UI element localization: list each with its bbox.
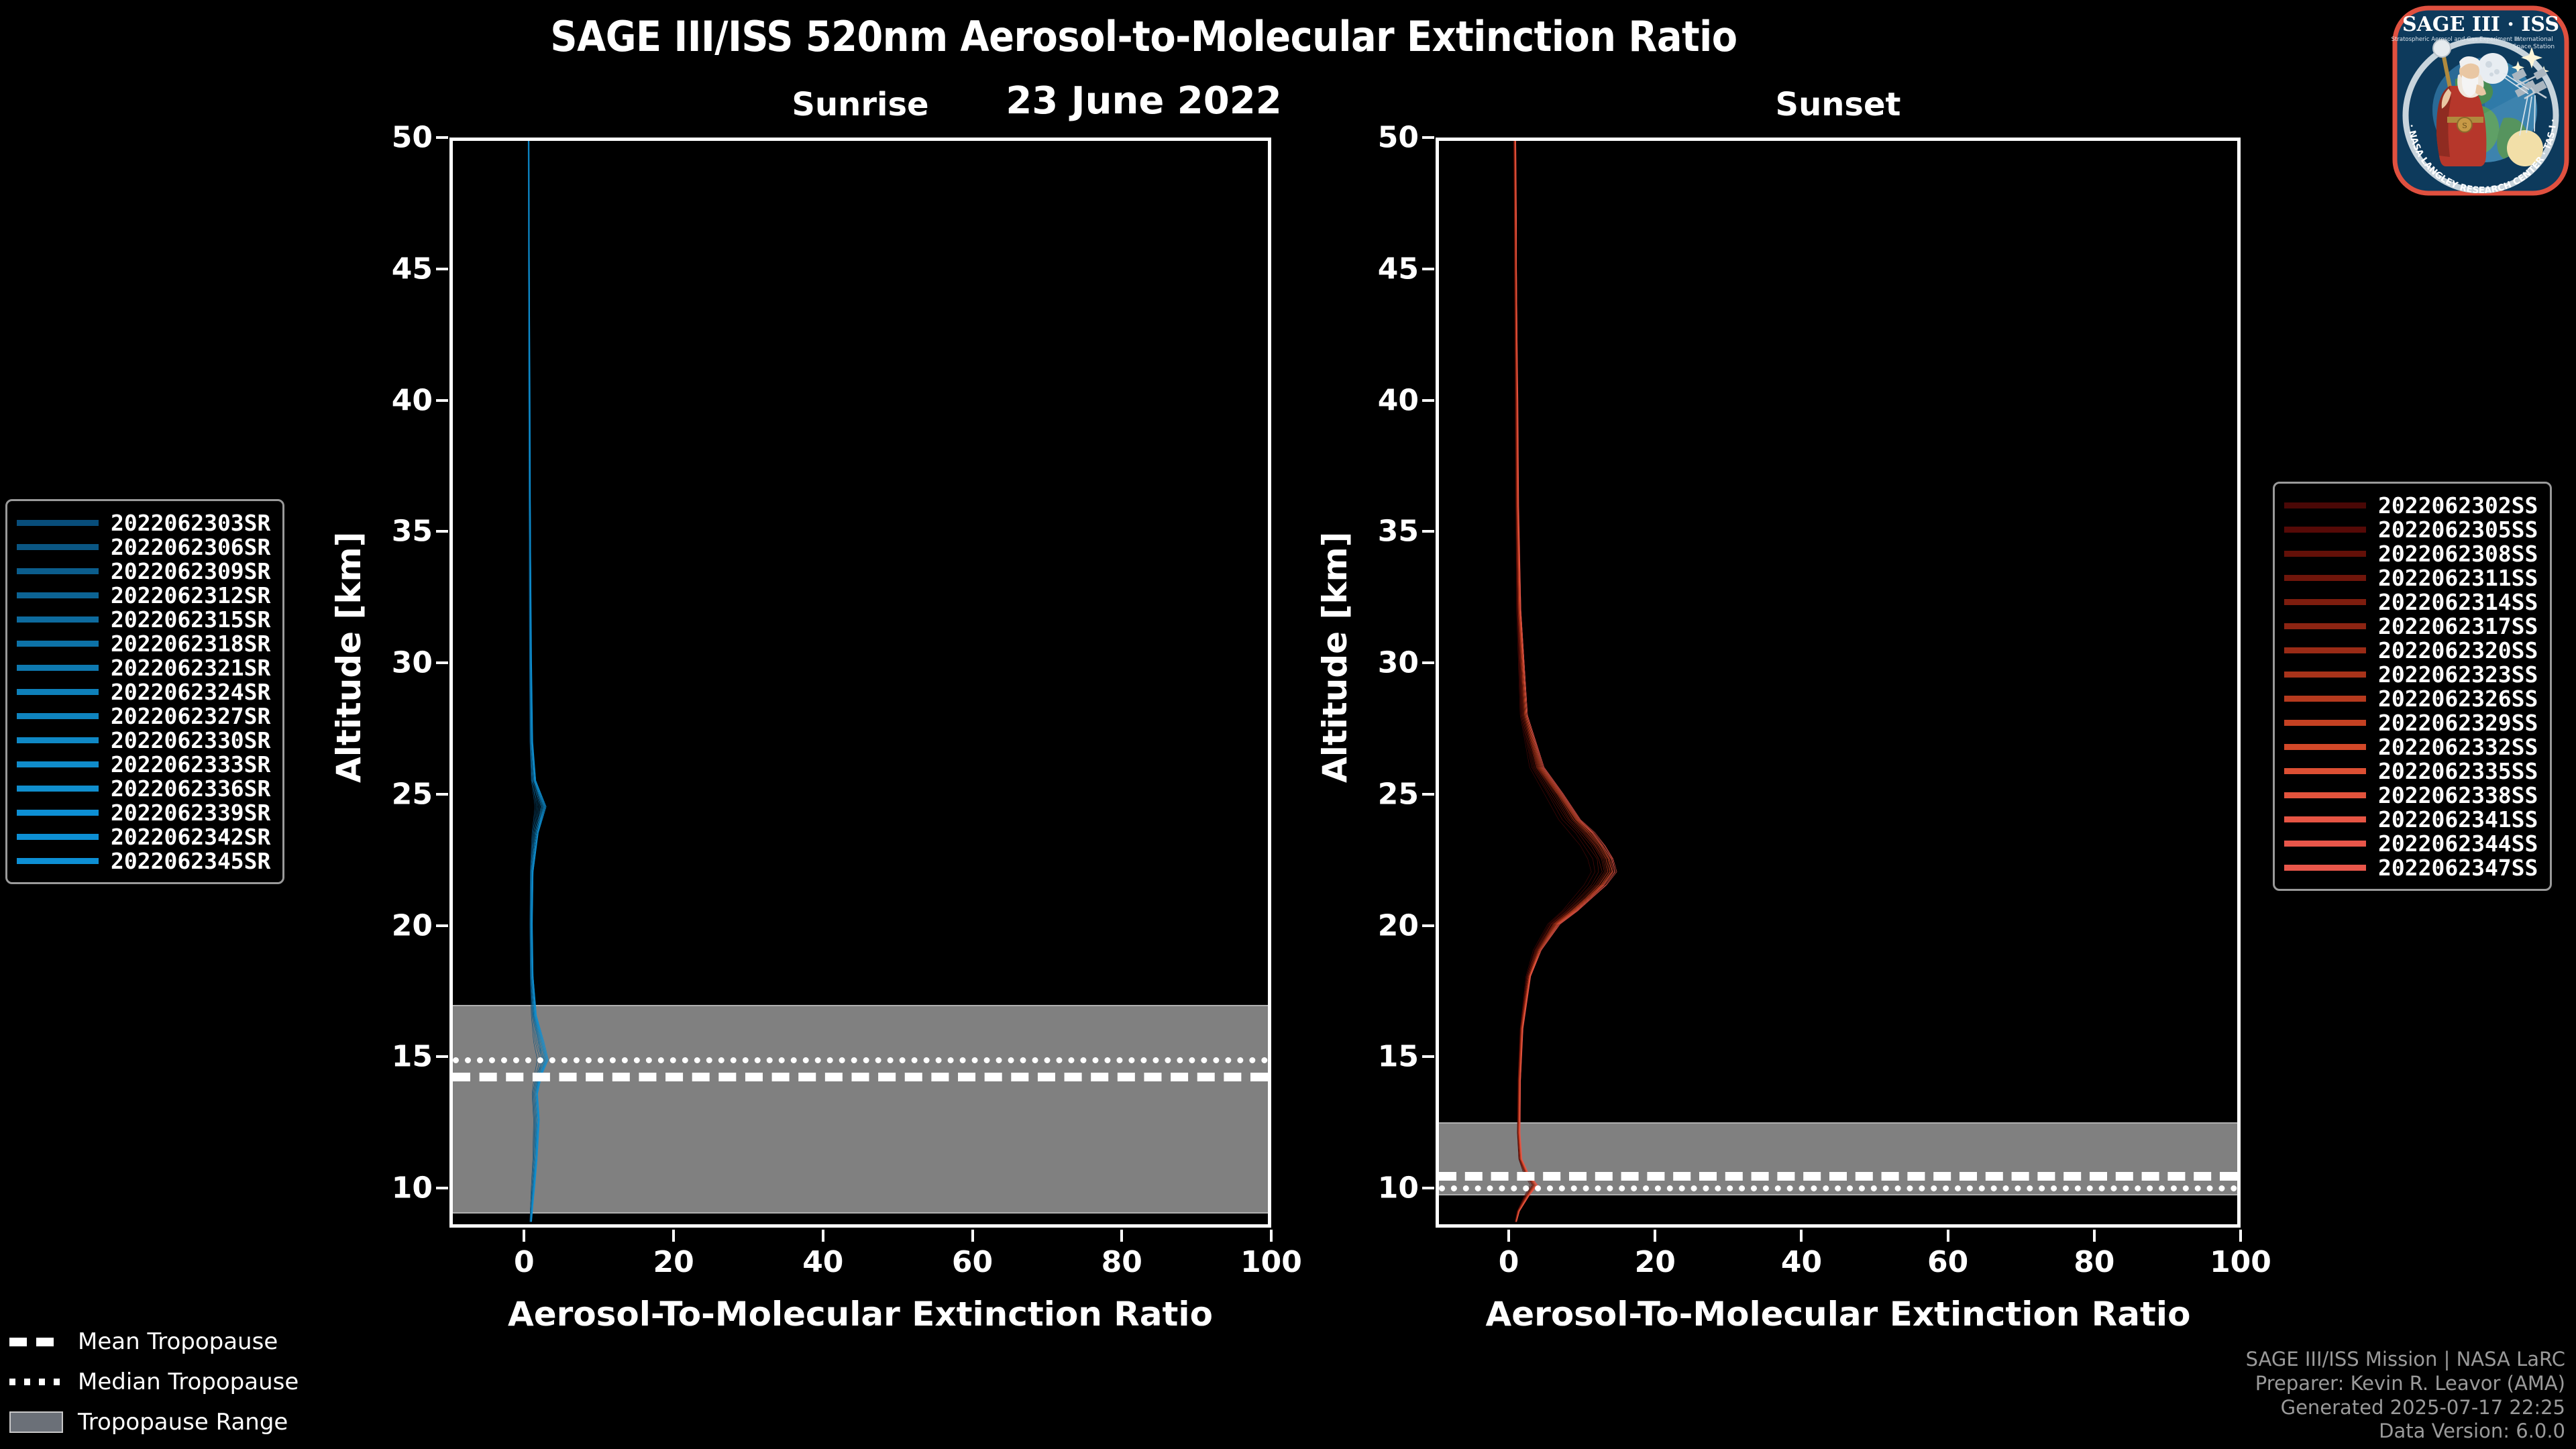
y-tick-mark [436, 530, 448, 533]
legend-row-tropopause-range: Tropopause Range [9, 1402, 299, 1442]
x-tick-mark [2239, 1230, 2242, 1242]
legend-color-swatch [17, 786, 99, 792]
series-line [1516, 141, 1617, 1222]
legend-label-median-tropopause: Median Tropopause [78, 1368, 299, 1395]
legend-color-swatch [2284, 696, 2366, 702]
plot-panel-sunset[interactable] [1436, 138, 2241, 1228]
legend-color-swatch [2284, 575, 2366, 581]
y-tick-mark [436, 924, 448, 927]
legend-item-label: 2022062309SR [111, 558, 270, 584]
legend-item-2022062339sr[interactable]: 2022062339SR [17, 800, 270, 824]
legend-item-2022062342sr[interactable]: 2022062342SR [17, 824, 270, 849]
legend-item-label: 2022062330SR [111, 727, 270, 753]
x-tick-label: 0 [470, 1245, 578, 1279]
legend-color-swatch [2284, 865, 2366, 871]
legend-item-2022062329ss[interactable]: 2022062329SS [2284, 710, 2538, 735]
legend-item-2022062326ss[interactable]: 2022062326SS [2284, 686, 2538, 710]
legend-item-label: 2022062303SR [111, 510, 270, 536]
legend-item-label: 2022062315SR [111, 606, 270, 633]
y-tick-label: 20 [1338, 908, 1419, 943]
legend-item-label: 2022062321SR [111, 655, 270, 681]
legend-item-2022062324sr[interactable]: 2022062324SR [17, 680, 270, 704]
legend-item-label: 2022062338SS [2378, 782, 2538, 808]
x-tick-mark [1270, 1230, 1273, 1242]
y-tick-label: 15 [1338, 1040, 1419, 1074]
legend-item-label: 2022062344SS [2378, 830, 2538, 857]
y-tick-label: 10 [1338, 1171, 1419, 1205]
y-tick-label: 40 [352, 383, 433, 417]
legend-item-2022062320ss[interactable]: 2022062320SS [2284, 638, 2538, 662]
legend-item-2022062306sr[interactable]: 2022062306SR [17, 535, 270, 559]
series-line [1515, 141, 1613, 1222]
x-tick-label: 0 [1455, 1245, 1562, 1279]
legend-item-label: 2022062347SS [2378, 855, 2538, 881]
legend-item-label: 2022062332SS [2378, 734, 2538, 760]
legend-color-swatch [2284, 768, 2366, 774]
sunrise-panel-title: Sunrise [449, 86, 1271, 123]
legend-sunset[interactable]: 2022062302SS2022062305SS2022062308SS2022… [2273, 482, 2552, 891]
legend-item-2022062303sr[interactable]: 2022062303SR [17, 511, 270, 535]
legend-item-2022062338ss[interactable]: 2022062338SS [2284, 783, 2538, 807]
legend-color-swatch [17, 641, 99, 647]
y-tick-label: 50 [1338, 121, 1419, 155]
x-tick-label: 80 [1068, 1245, 1175, 1279]
legend-color-swatch [17, 834, 99, 840]
y-tick-mark [436, 268, 448, 270]
legend-color-swatch [2284, 792, 2366, 798]
legend-item-2022062344ss[interactable]: 2022062344SS [2284, 831, 2538, 855]
legend-item-2022062336sr[interactable]: 2022062336SR [17, 776, 270, 800]
patch-subtitle-right-1: International [2514, 36, 2553, 43]
legend-item-2022062345sr[interactable]: 2022062345SR [17, 849, 270, 873]
legend-color-swatch [2284, 744, 2366, 750]
series-line [1515, 141, 1613, 1222]
legend-item-label: 2022062339SR [111, 800, 270, 826]
y-tick-label: 10 [352, 1171, 433, 1205]
y-tick-label: 15 [352, 1040, 433, 1074]
legend-item-2022062318sr[interactable]: 2022062318SR [17, 631, 270, 655]
y-tick-mark [436, 1187, 448, 1189]
legend-color-swatch [2284, 551, 2366, 557]
legend-item-2022062335ss[interactable]: 2022062335SS [2284, 759, 2538, 783]
legend-item-label: 2022062326SS [2378, 686, 2538, 712]
legend-color-swatch [2284, 599, 2366, 605]
x-tick-label: 60 [1894, 1245, 2002, 1279]
legend-color-swatch [17, 616, 99, 623]
series-line [1515, 141, 1606, 1222]
legend-color-swatch [2284, 841, 2366, 847]
y-tick-label: 40 [1338, 383, 1419, 417]
profile-curves-sunset [1439, 141, 2237, 1224]
legend-color-swatch [17, 568, 99, 574]
y-tick-mark [1422, 1187, 1434, 1189]
tropopause-legend: Mean Tropopause Median Tropopause Tropop… [9, 1322, 299, 1442]
y-tick-mark [1422, 399, 1434, 402]
y-tick-mark [436, 399, 448, 402]
credits-line-mission: SAGE III/ISS Mission | NASA LaRC [2246, 1348, 2565, 1372]
legend-item-label: 2022062345SR [111, 848, 270, 874]
legend-item-label: 2022062311SS [2378, 565, 2538, 591]
plot-panel-sunrise[interactable] [449, 138, 1271, 1228]
y-tick-mark [436, 1055, 448, 1058]
y-axis-title: Altitude [km] [329, 582, 368, 783]
x-tick-mark [2093, 1230, 2096, 1242]
legend-color-swatch [17, 689, 99, 695]
legend-item-2022062332ss[interactable]: 2022062332SS [2284, 735, 2538, 759]
x-tick-label: 20 [1601, 1245, 1709, 1279]
x-tick-label: 100 [1218, 1245, 1325, 1279]
legend-color-swatch [2284, 502, 2366, 508]
x-tick-label: 40 [769, 1245, 877, 1279]
patch-subtitle-right-2: Space Station [2513, 44, 2555, 50]
legend-color-swatch [17, 810, 99, 816]
y-tick-mark [436, 136, 448, 139]
legend-item-2022062315sr[interactable]: 2022062315SR [17, 607, 270, 631]
legend-item-label: 2022062318SR [111, 631, 270, 657]
median-tropopause-line [1439, 1185, 2237, 1191]
median-tropopause-line [453, 1057, 1268, 1063]
y-tick-label: 45 [1338, 252, 1419, 286]
legend-item-label: 2022062341SS [2378, 806, 2538, 833]
series-line [1515, 141, 1615, 1222]
y-tick-label: 45 [352, 252, 433, 286]
legend-item-label: 2022062314SS [2378, 589, 2538, 615]
x-tick-mark [971, 1230, 974, 1242]
y-tick-mark [1422, 793, 1434, 796]
sage-iii-iss-mission-patch-icon: S SAGE III · ISS Stratospheric Aerosol a… [2391, 4, 2571, 197]
patch-subtitle-left: Stratospheric Aerosol and Gas Experiment… [2392, 36, 2520, 43]
x-axis-title: Aerosol-To-Molecular Extinction Ratio [1436, 1295, 2241, 1334]
y-tick-mark [1422, 530, 1434, 533]
legend-color-swatch [17, 761, 99, 767]
y-tick-mark [1422, 661, 1434, 664]
x-tick-mark [1800, 1230, 1803, 1242]
x-tick-label: 80 [2041, 1245, 2148, 1279]
x-tick-mark [1654, 1230, 1656, 1242]
legend-item-label: 2022062305SS [2378, 517, 2538, 543]
legend-item-2022062309sr[interactable]: 2022062309SR [17, 559, 270, 583]
legend-item-2022062330sr[interactable]: 2022062330SR [17, 728, 270, 752]
legend-item-label: 2022062308SS [2378, 541, 2538, 567]
legend-color-swatch [2284, 720, 2366, 726]
legend-label-mean-tropopause: Mean Tropopause [78, 1328, 278, 1355]
legend-item-2022062341ss[interactable]: 2022062341SS [2284, 807, 2538, 831]
legend-color-swatch [2284, 527, 2366, 533]
legend-item-label: 2022062320SS [2378, 637, 2538, 663]
page-title: SAGE III/ISS 520nm Aerosol-to-Molecular … [0, 12, 2288, 61]
legend-color-swatch [17, 737, 99, 743]
legend-color-swatch [17, 544, 99, 550]
credits-block: SAGE III/ISS Mission | NASA LaRC Prepare… [2246, 1348, 2565, 1444]
y-axis-title: Altitude [km] [1316, 582, 1354, 783]
legend-item-2022062347ss[interactable]: 2022062347SS [2284, 855, 2538, 879]
x-tick-mark [672, 1230, 675, 1242]
y-tick-mark [436, 793, 448, 796]
series-line [1515, 141, 1607, 1222]
legend-item-2022062327sr[interactable]: 2022062327SR [17, 704, 270, 728]
legend-color-swatch [17, 665, 99, 671]
mean-tropopause-line [1439, 1172, 2237, 1181]
legend-item-label: 2022062306SR [111, 534, 270, 560]
legend-item-label: 2022062342SR [111, 824, 270, 850]
credits-line-preparer: Preparer: Kevin R. Leavor (AMA) [2246, 1372, 2565, 1396]
series-line [1514, 141, 1599, 1222]
series-line [1515, 141, 1611, 1222]
legend-item-2022062314ss[interactable]: 2022062314SS [2284, 590, 2538, 614]
legend-item-2022062333sr[interactable]: 2022062333SR [17, 752, 270, 776]
y-tick-mark [1422, 136, 1434, 139]
legend-item-2022062312sr[interactable]: 2022062312SR [17, 583, 270, 607]
legend-row-median-tropopause: Median Tropopause [9, 1362, 299, 1402]
legend-item-2022062321sr[interactable]: 2022062321SR [17, 655, 270, 680]
x-axis-title: Aerosol-To-Molecular Extinction Ratio [449, 1295, 1271, 1334]
legend-item-label: 2022062327SR [111, 703, 270, 729]
legend-item-2022062305ss[interactable]: 2022062305SS [2284, 517, 2538, 541]
dotted-line-icon [9, 1375, 63, 1389]
legend-color-swatch [2284, 816, 2366, 822]
legend-color-swatch [17, 858, 99, 864]
x-tick-mark [1507, 1230, 1510, 1242]
x-tick-label: 60 [919, 1245, 1026, 1279]
legend-label-tropopause-range: Tropopause Range [78, 1409, 288, 1436]
legend-row-mean-tropopause: Mean Tropopause [9, 1322, 299, 1362]
legend-item-2022062311ss[interactable]: 2022062311SS [2284, 566, 2538, 590]
x-tick-mark [1120, 1230, 1123, 1242]
dashed-line-icon [9, 1334, 63, 1349]
legend-item-label: 2022062317SS [2378, 613, 2538, 639]
filled-box-icon [9, 1415, 63, 1430]
credits-line-generated: Generated 2025-07-17 22:25 [2246, 1396, 2565, 1420]
x-tick-mark [822, 1230, 824, 1242]
x-tick-label: 40 [1748, 1245, 1855, 1279]
legend-sunrise[interactable]: 2022062303SR2022062306SR2022062309SR2022… [5, 499, 284, 884]
legend-item-2022062317ss[interactable]: 2022062317SS [2284, 614, 2538, 638]
legend-color-swatch [2284, 672, 2366, 678]
y-tick-mark [1422, 1055, 1434, 1058]
legend-color-swatch [17, 592, 99, 598]
y-tick-mark [1422, 268, 1434, 270]
series-line [1515, 141, 1609, 1222]
legend-color-swatch [17, 520, 99, 526]
x-tick-mark [523, 1230, 525, 1242]
legend-item-label: 2022062324SR [111, 679, 270, 705]
legend-item-2022062302ss[interactable]: 2022062302SS [2284, 493, 2538, 517]
series-line [1515, 141, 1612, 1222]
legend-item-label: 2022062323SS [2378, 661, 2538, 688]
x-tick-label: 100 [2187, 1245, 2294, 1279]
y-tick-mark [436, 661, 448, 664]
legend-item-2022062308ss[interactable]: 2022062308SS [2284, 541, 2538, 566]
legend-item-label: 2022062335SS [2378, 758, 2538, 784]
credits-line-dataversion: Data Version: 6.0.0 [2246, 1419, 2565, 1444]
mean-tropopause-line [453, 1073, 1268, 1081]
series-line [1515, 141, 1608, 1222]
legend-item-label: 2022062312SR [111, 582, 270, 608]
y-tick-label: 50 [352, 121, 433, 155]
series-line [1515, 141, 1605, 1222]
legend-item-label: 2022062302SS [2378, 492, 2538, 519]
legend-item-label: 2022062336SR [111, 775, 270, 802]
svg-text:S: S [2462, 121, 2467, 130]
legend-item-label: 2022062329SS [2378, 710, 2538, 736]
legend-item-2022062323ss[interactable]: 2022062323SS [2284, 662, 2538, 686]
y-tick-label: 20 [352, 908, 433, 943]
x-tick-mark [1947, 1230, 1949, 1242]
legend-color-swatch [17, 713, 99, 719]
legend-item-label: 2022062333SR [111, 751, 270, 777]
series-line [1514, 141, 1602, 1222]
sunset-panel-title: Sunset [1436, 86, 2241, 123]
legend-color-swatch [2284, 647, 2366, 653]
x-tick-label: 20 [620, 1245, 727, 1279]
patch-title: SAGE III · ISS [2402, 13, 2559, 36]
series-line [1516, 141, 1615, 1222]
series-line [1513, 141, 1595, 1222]
y-tick-mark [1422, 924, 1434, 927]
legend-color-swatch [2284, 623, 2366, 629]
